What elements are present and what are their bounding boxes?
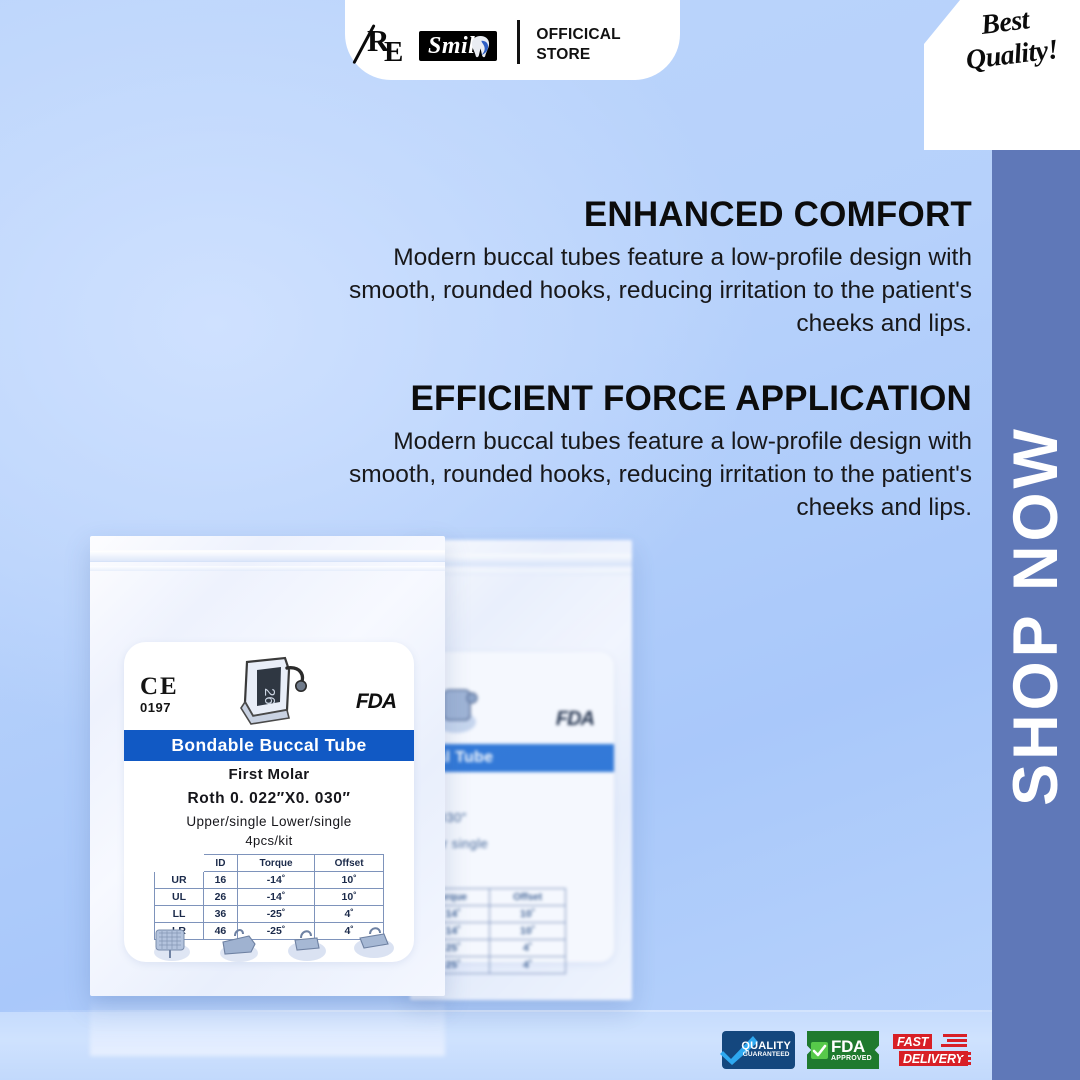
label-title: Bondable Buccal Tube bbox=[171, 735, 366, 756]
store-label-line2: STORE bbox=[536, 45, 620, 65]
quality-guaranteed-badge: QUALITY GUARANTEED bbox=[722, 1030, 795, 1070]
speed-line-icon bbox=[947, 1039, 967, 1042]
feature-block-2: EFFICIENT FORCE APPLICATION Modern bucca… bbox=[340, 380, 972, 524]
table-row: UL 26 -14˚ 10˚ bbox=[155, 889, 384, 906]
buccal-tube-bracket-icon bbox=[283, 924, 331, 964]
best-quality-line1: Best bbox=[979, 4, 1030, 41]
label-arch: Upper/single Lower/single bbox=[124, 814, 414, 829]
svg-text:26: 26 bbox=[261, 688, 278, 705]
col-id: ID bbox=[204, 855, 238, 872]
logo-letter-e: E bbox=[384, 38, 403, 67]
buccal-tube-bracket-icon bbox=[350, 924, 398, 964]
fast-badge-line2: DELIVERY bbox=[899, 1051, 968, 1066]
re-monogram-icon: R E bbox=[367, 26, 419, 66]
col-torque: Torque bbox=[237, 855, 314, 872]
store-label-line1: OFFICICAL bbox=[536, 25, 620, 45]
speed-line-icon bbox=[961, 1062, 971, 1065]
label-title-band: Bondable Buccal Tube bbox=[124, 730, 414, 761]
feature-heading-2: EFFICIENT FORCE APPLICATION bbox=[340, 380, 972, 419]
package-zip bbox=[90, 550, 445, 562]
speed-line-icon bbox=[961, 1052, 971, 1055]
fda-approved-badge: FDA APPROVED bbox=[807, 1030, 879, 1070]
label-molar: First Molar bbox=[124, 766, 414, 783]
label-spec: Roth 0. 022″X0. 030″ bbox=[124, 790, 414, 808]
col-offset-back: Offset bbox=[490, 889, 566, 906]
smile-wordmark: Smil bbox=[419, 31, 497, 61]
store-label: OFFICICAL STORE bbox=[536, 25, 620, 66]
feature-body-1: Modern buccal tubes feature a low-profil… bbox=[340, 241, 972, 340]
package-reflection bbox=[90, 998, 445, 1056]
table-row: UR 16 -14˚ 10˚ bbox=[155, 872, 384, 889]
fast-delivery-badge: FAST DELIVERY bbox=[891, 1030, 971, 1070]
feature-heading-1: ENHANCED COMFORT bbox=[340, 196, 972, 235]
label-qty: 4pcs/kit bbox=[124, 833, 414, 848]
shop-now-band[interactable] bbox=[992, 0, 1080, 1080]
fda-badge-line1: FDA bbox=[831, 1038, 872, 1055]
feature-block-1: ENHANCED COMFORT Modern buccal tubes fea… bbox=[340, 196, 972, 340]
fast-badge-line1: FAST bbox=[893, 1034, 932, 1049]
green-check-icon bbox=[811, 1042, 828, 1059]
quality-badge-line2: GUARANTEED bbox=[741, 1052, 791, 1059]
speed-line-icon bbox=[941, 1044, 967, 1047]
label-spec-lines: First Molar Roth 0. 022″X0. 030″ Upper/s… bbox=[124, 766, 414, 848]
table-row: ID Torque Offset bbox=[155, 855, 384, 872]
smile-text: Smil bbox=[428, 34, 475, 58]
product-package-front: CE 0197 FDA 26 Bondable Buccal Tube bbox=[90, 536, 445, 996]
fda-mark-back: FDA bbox=[556, 708, 594, 731]
loose-brackets-row bbox=[148, 912, 398, 964]
fda-badge-line2: APPROVED bbox=[831, 1055, 872, 1062]
col-offset: Offset bbox=[315, 855, 384, 872]
package-zip-secondary bbox=[90, 566, 445, 571]
fda-mark-icon: FDA bbox=[356, 690, 396, 714]
ce-number: 0197 bbox=[140, 700, 171, 715]
tooth-icon bbox=[471, 35, 490, 58]
trust-badges: QUALITY GUARANTEED FDA APPROVED FAST DEL… bbox=[722, 1030, 971, 1070]
label-header: CE 0197 FDA 26 bbox=[124, 642, 414, 728]
header-divider bbox=[517, 20, 520, 64]
speed-line-icon bbox=[961, 1057, 971, 1060]
speed-line-icon bbox=[943, 1034, 967, 1037]
mesh-bracket-icon bbox=[148, 924, 196, 964]
buccal-tube-illustration: 26 bbox=[223, 650, 315, 730]
promo-banner: FDA ccal Tube lar X0 030″ ower single it… bbox=[0, 0, 1080, 1080]
product-photo: FDA ccal Tube lar X0 030″ ower single it… bbox=[60, 500, 680, 1060]
buccal-tube-bracket-icon bbox=[215, 924, 263, 964]
col-blank bbox=[155, 855, 204, 872]
ce-mark-icon: CE bbox=[140, 674, 179, 699]
feature-body-2: Modern buccal tubes feature a low-profil… bbox=[340, 425, 972, 524]
brand-header: R E Smil OFFICICAL STORE bbox=[345, 0, 680, 80]
brand-logo[interactable]: R E Smil bbox=[367, 26, 497, 66]
